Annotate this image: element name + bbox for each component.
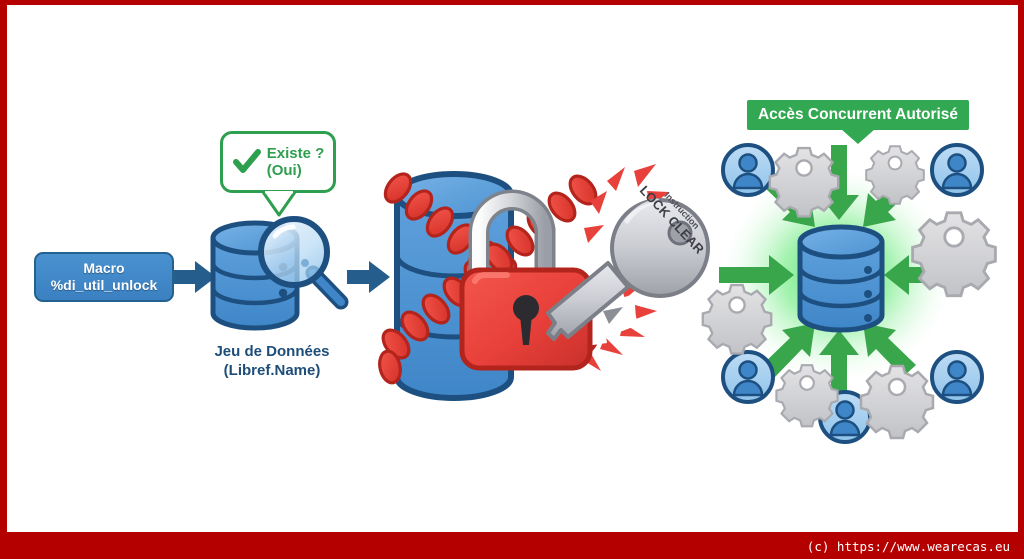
arrow-dataset-to-locked: [347, 261, 390, 293]
dataset-label: Jeu de Données (Libref.Name): [177, 342, 367, 380]
padlock-icon: [462, 200, 590, 368]
user-icon: [723, 145, 773, 195]
macro-line1: Macro: [83, 260, 124, 277]
existe-callout: Existe ? (Oui): [220, 131, 336, 193]
dataset-label-line1: Jeu de Données: [177, 342, 367, 361]
user-icon: [932, 145, 982, 195]
locked-database-group: [377, 164, 708, 398]
banner-label: Accès Concurrent Autorisé: [758, 106, 958, 124]
frame-border-right: [1018, 0, 1024, 559]
gear-icon: [861, 366, 933, 438]
macro-line2: %di_util_unlock: [51, 277, 158, 294]
arrow-macro-to-dataset: [173, 261, 216, 293]
gear-icon: [703, 285, 771, 353]
frame-border-top: [0, 0, 1024, 5]
diagram-frame: Existe ? (Oui) Macro %di_util_unlock Jeu…: [0, 0, 1024, 559]
user-icon: [723, 352, 773, 402]
dataset-label-line2: (Libref.Name): [177, 361, 367, 380]
callout-line2: (Oui): [267, 162, 302, 179]
diagram-canvas: Existe ? (Oui) Macro %di_util_unlock Jeu…: [7, 5, 1018, 533]
shared-database-icon: [800, 227, 882, 330]
gear-icon: [776, 365, 837, 426]
concurrent-access-group: [703, 145, 996, 442]
concurrent-access-banner: Accès Concurrent Autorisé: [747, 100, 969, 130]
macro-box[interactable]: Macro %di_util_unlock: [34, 252, 174, 302]
check-icon: [232, 147, 262, 177]
banner-tail: [841, 129, 875, 144]
callout-line1: Existe ?: [267, 145, 325, 162]
callout-tail: [262, 191, 296, 217]
gear-icon: [770, 148, 838, 216]
user-icon: [932, 352, 982, 402]
gear-icon: [866, 146, 924, 204]
gear-icon: [913, 213, 996, 296]
footer-credit: (c) https://www.wearecas.eu: [807, 539, 1010, 554]
frame-border-left: [0, 0, 7, 559]
